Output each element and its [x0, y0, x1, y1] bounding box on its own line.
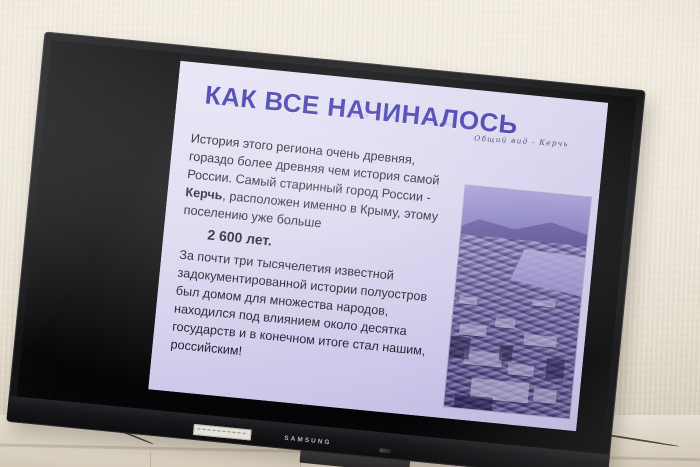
- scene-vignette: [0, 0, 700, 467]
- photo-scene: КАК ВСЕ НАЧИНАЛОСЬ КАК ВСЕ НАЧИНАЛОСЬ Об…: [0, 0, 700, 467]
